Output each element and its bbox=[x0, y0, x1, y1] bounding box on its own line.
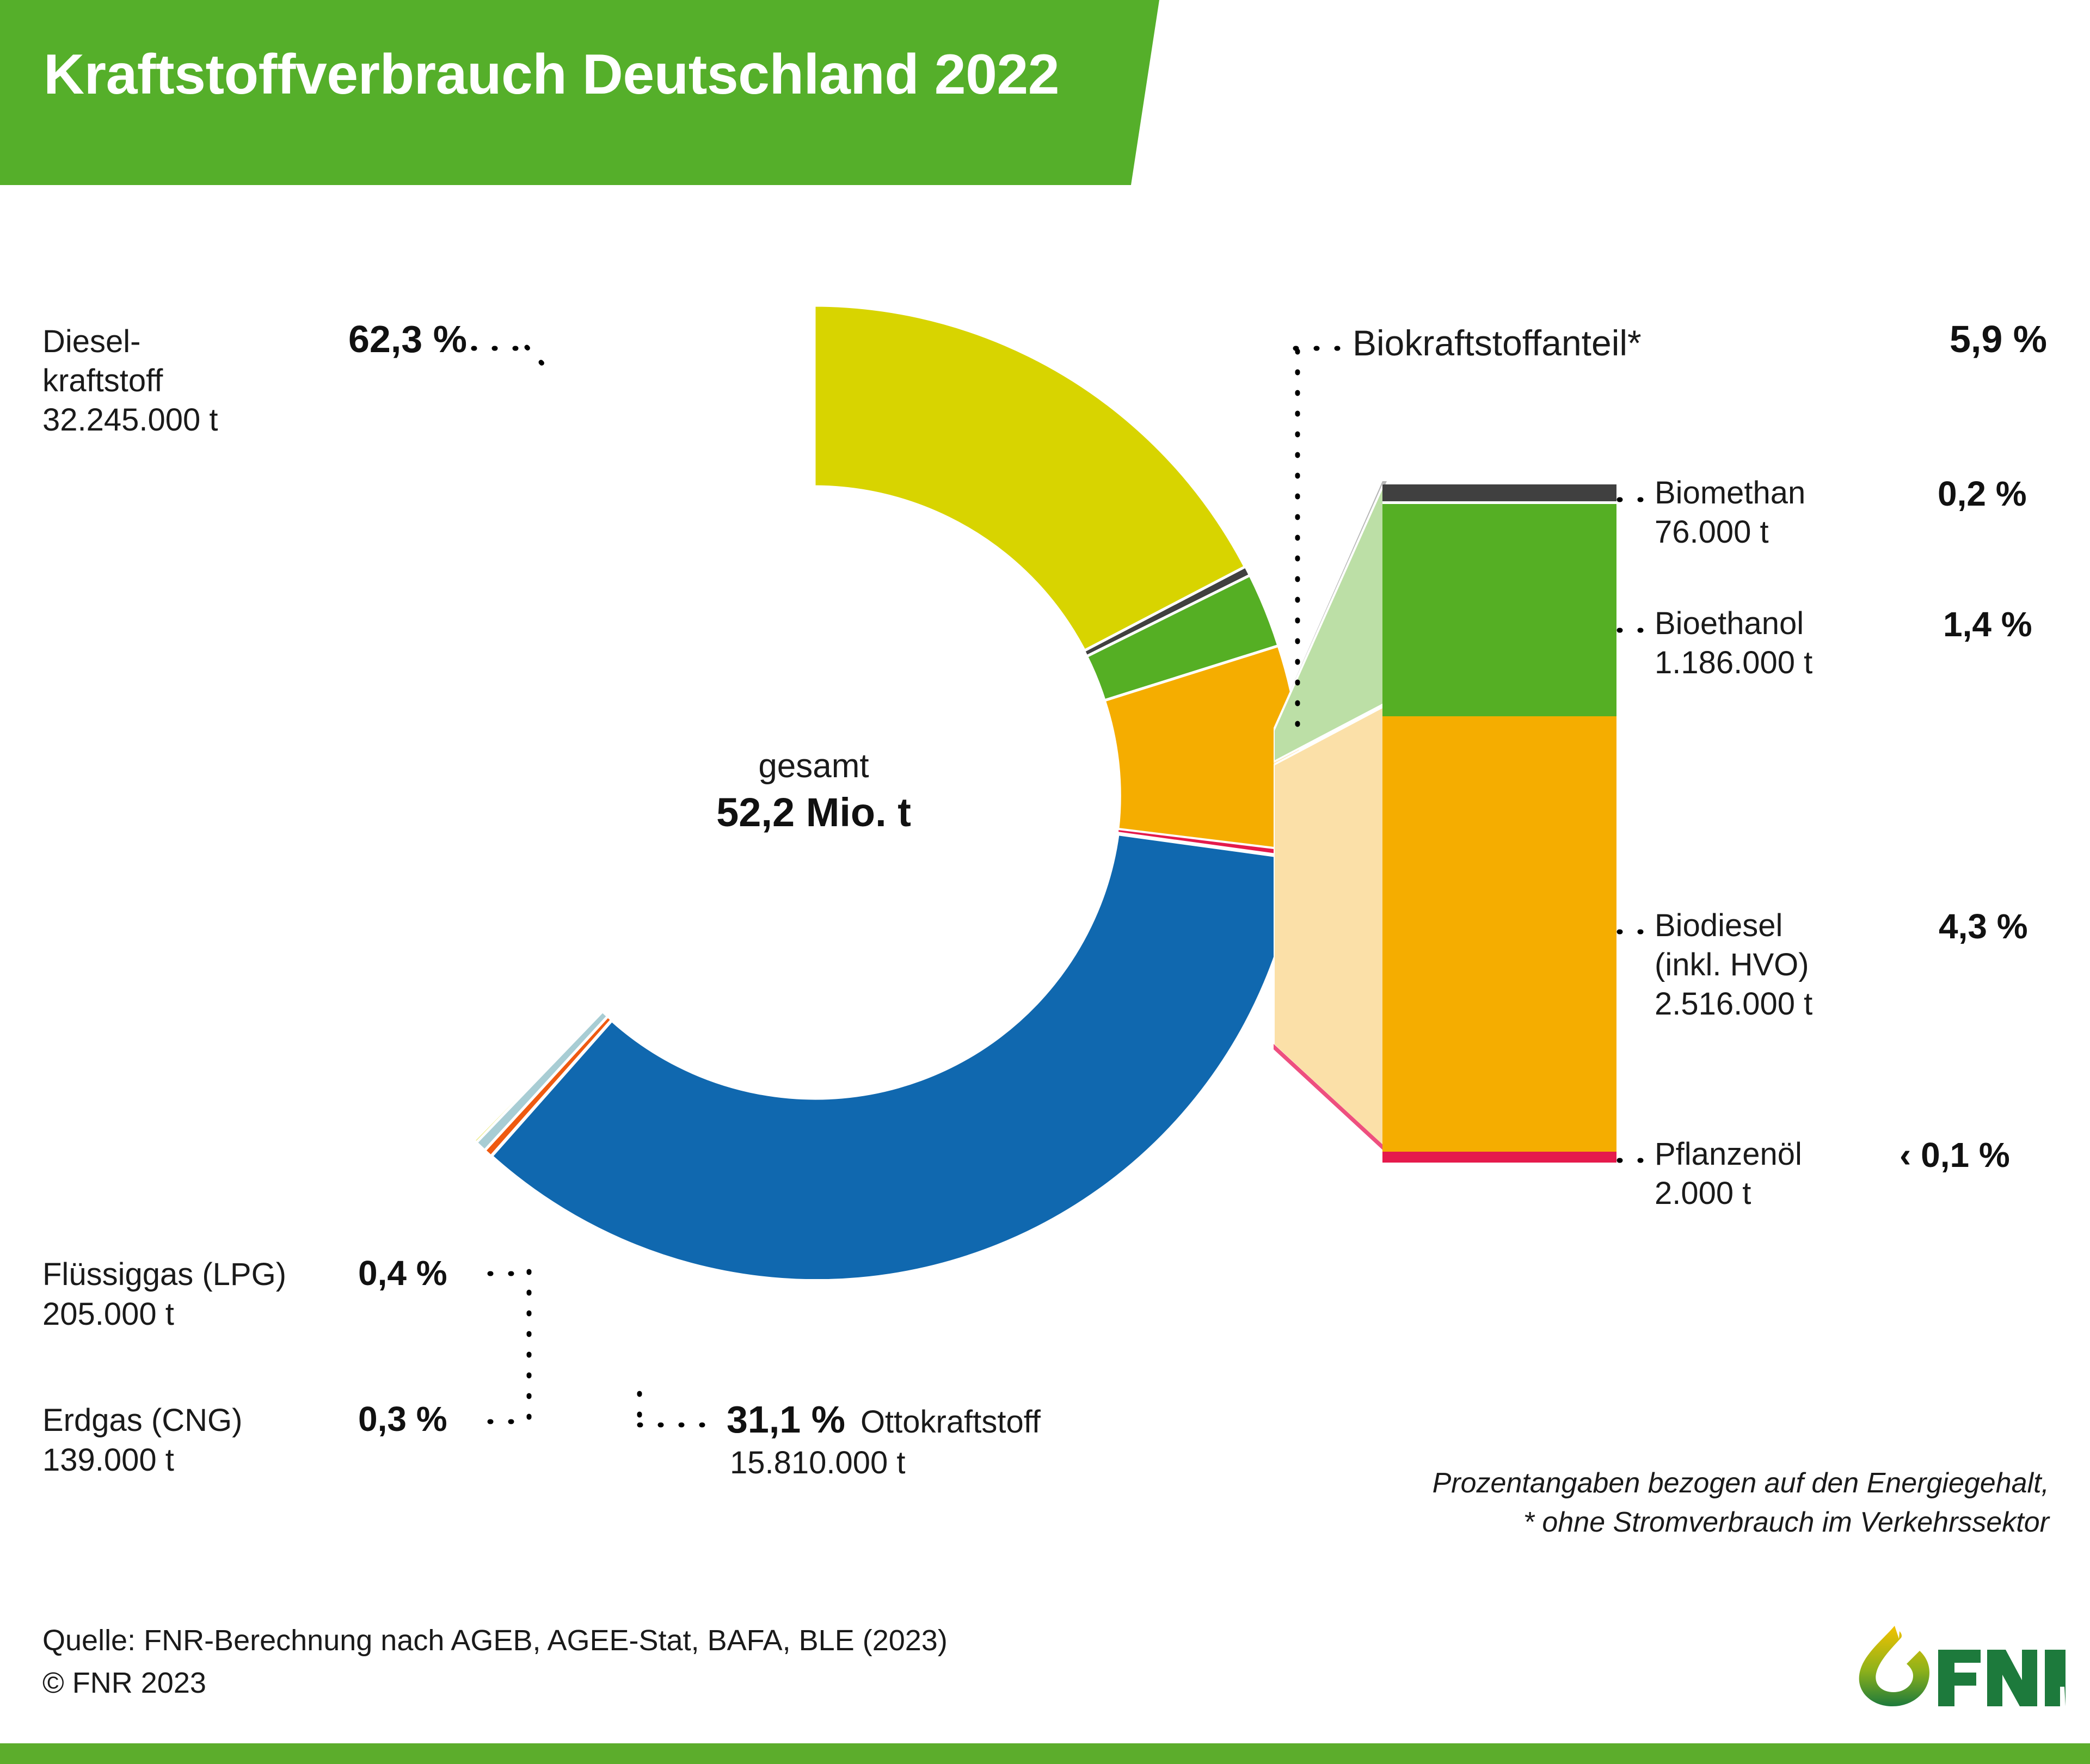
label-pflanzenoel: Pflanzenöl 2.000 t bbox=[1655, 1135, 1802, 1213]
fnr-logo bbox=[1848, 1614, 2066, 1712]
label-biodiesel-name-line2: (inkl. HVO) bbox=[1655, 945, 1812, 985]
label-pflanzenoel-amount: 2.000 t bbox=[1655, 1174, 1802, 1213]
label-bioethanol-amount: 1.186.000 t bbox=[1655, 643, 1812, 683]
label-biomethan-name: Biomethan bbox=[1655, 474, 1805, 513]
label-cng-pct: 0,3 % bbox=[358, 1398, 447, 1441]
label-biodiesel-name-line1: Biodiesel bbox=[1655, 906, 1812, 945]
label-pflanzenoel-pct: ‹ 0,1 % bbox=[1900, 1135, 2010, 1175]
label-bioethanol-name: Bioethanol bbox=[1655, 604, 1812, 643]
label-lpg-row: Flüssiggas (LPG) 0,4 % bbox=[42, 1252, 447, 1295]
donut-slice-otto bbox=[491, 834, 1299, 1279]
fan-wedge-orange bbox=[1274, 706, 1385, 1148]
label-biodiesel-amount: 2.516.000 t bbox=[1655, 985, 1812, 1024]
footnote-line1: Prozentangaben bezogen auf den Energiege… bbox=[1252, 1464, 2049, 1503]
label-diesel-pct-wrap: 62,3 % bbox=[348, 316, 467, 363]
label-diesel-pct: 62,3 % bbox=[348, 318, 467, 360]
fnr-logo-svg bbox=[1848, 1614, 2066, 1712]
label-biokraftstoffanteil-pct: 5,9 % bbox=[1950, 318, 2047, 360]
fnr-wordmark bbox=[1938, 1650, 2066, 1706]
label-diesel-amount: 32.245.000 t bbox=[42, 401, 391, 440]
label-pflanzenoel-pct-wrap: ‹ 0,1 % bbox=[1900, 1134, 2010, 1177]
label-cng: Erdgas (CNG) 0,3 % 139.000 t bbox=[42, 1398, 447, 1480]
label-diesel-name-line2: kraftstoff bbox=[42, 361, 391, 401]
label-otto-name: Ottokraftstoff bbox=[860, 1403, 1041, 1442]
label-biodiesel-pct-wrap: 4,3 % bbox=[1939, 905, 2028, 948]
label-bioethanol: Bioethanol 1.186.000 t bbox=[1655, 604, 1812, 683]
label-lpg-name: Flüssiggas (LPG) bbox=[42, 1255, 358, 1294]
fnr-flame-icon bbox=[1859, 1626, 1929, 1706]
label-biomethan-amount: 76.000 t bbox=[1655, 513, 1805, 552]
label-otto-pct: 31,1 % bbox=[727, 1396, 845, 1443]
label-biodiesel: Biodiesel (inkl. HVO) 2.516.000 t bbox=[1655, 906, 1812, 1024]
label-pflanzenoel-name: Pflanzenöl bbox=[1655, 1135, 1802, 1174]
label-biomethan-pct-wrap: 0,2 % bbox=[1938, 472, 2027, 515]
bottom-green-rule bbox=[0, 1743, 2090, 1764]
donut-svg bbox=[327, 305, 1301, 1279]
bar-segment-biomethan bbox=[1382, 484, 1616, 504]
label-biodiesel-pct: 4,3 % bbox=[1939, 907, 2028, 946]
page-title: Kraftstoffverbrauch Deutschland 2022 bbox=[44, 42, 1059, 107]
infographic-root: Kraftstoffverbrauch Deutschland 2022 bbox=[0, 0, 2090, 1764]
label-cng-row: Erdgas (CNG) 0,3 % bbox=[42, 1398, 447, 1441]
source-note: Quelle: FNR-Berechnung nach AGEB, AGEE-S… bbox=[42, 1619, 948, 1705]
label-biokraftstoffanteil-pct-wrap: 5,9 % bbox=[1950, 316, 2047, 363]
label-biokraftstoffanteil: Biokraftstoffanteil* bbox=[1353, 322, 1642, 364]
label-cng-amount: 139.000 t bbox=[42, 1441, 447, 1480]
label-biokraftstoffanteil-name: Biokraftstoffanteil* bbox=[1353, 323, 1642, 363]
label-otto: 31,1 % Ottokraftstoff 15.810.000 t bbox=[727, 1396, 1041, 1483]
label-lpg-pct: 0,4 % bbox=[358, 1252, 447, 1295]
label-bioethanol-pct-wrap: 1,4 % bbox=[1943, 603, 2032, 646]
bar-segment-biodiesel bbox=[1382, 716, 1616, 1152]
footnote-line2: * ohne Stromverbrauch im Verkehrssektor bbox=[1252, 1503, 2049, 1542]
source-line2: © FNR 2023 bbox=[42, 1662, 948, 1704]
breakout-stacked-bar bbox=[1382, 484, 1616, 1163]
label-lpg: Flüssiggas (LPG) 0,4 % 205.000 t bbox=[42, 1252, 447, 1334]
donut-chart: gesamt 52,2 Mio. t bbox=[327, 305, 1301, 1279]
label-biomethan: Biomethan 76.000 t bbox=[1655, 474, 1805, 552]
label-bioethanol-pct: 1,4 % bbox=[1943, 605, 2032, 644]
footnote: Prozentangaben bezogen auf den Energiege… bbox=[1252, 1464, 2049, 1542]
label-diesel-name-line1: Diesel- bbox=[42, 322, 391, 361]
label-cng-name: Erdgas (CNG) bbox=[42, 1401, 358, 1440]
bar-segment-pflanzenoel bbox=[1382, 1152, 1616, 1163]
label-biomethan-pct: 0,2 % bbox=[1938, 474, 2027, 513]
label-lpg-amount: 205.000 t bbox=[42, 1295, 447, 1334]
bar-segment-bioethanol bbox=[1382, 504, 1616, 716]
label-otto-row: 31,1 % Ottokraftstoff bbox=[727, 1396, 1041, 1443]
source-line1: Quelle: FNR-Berechnung nach AGEB, AGEE-S… bbox=[42, 1619, 948, 1662]
label-otto-amount: 15.810.000 t bbox=[730, 1443, 1041, 1483]
label-diesel: Diesel- kraftstoff 32.245.000 t bbox=[42, 322, 391, 440]
